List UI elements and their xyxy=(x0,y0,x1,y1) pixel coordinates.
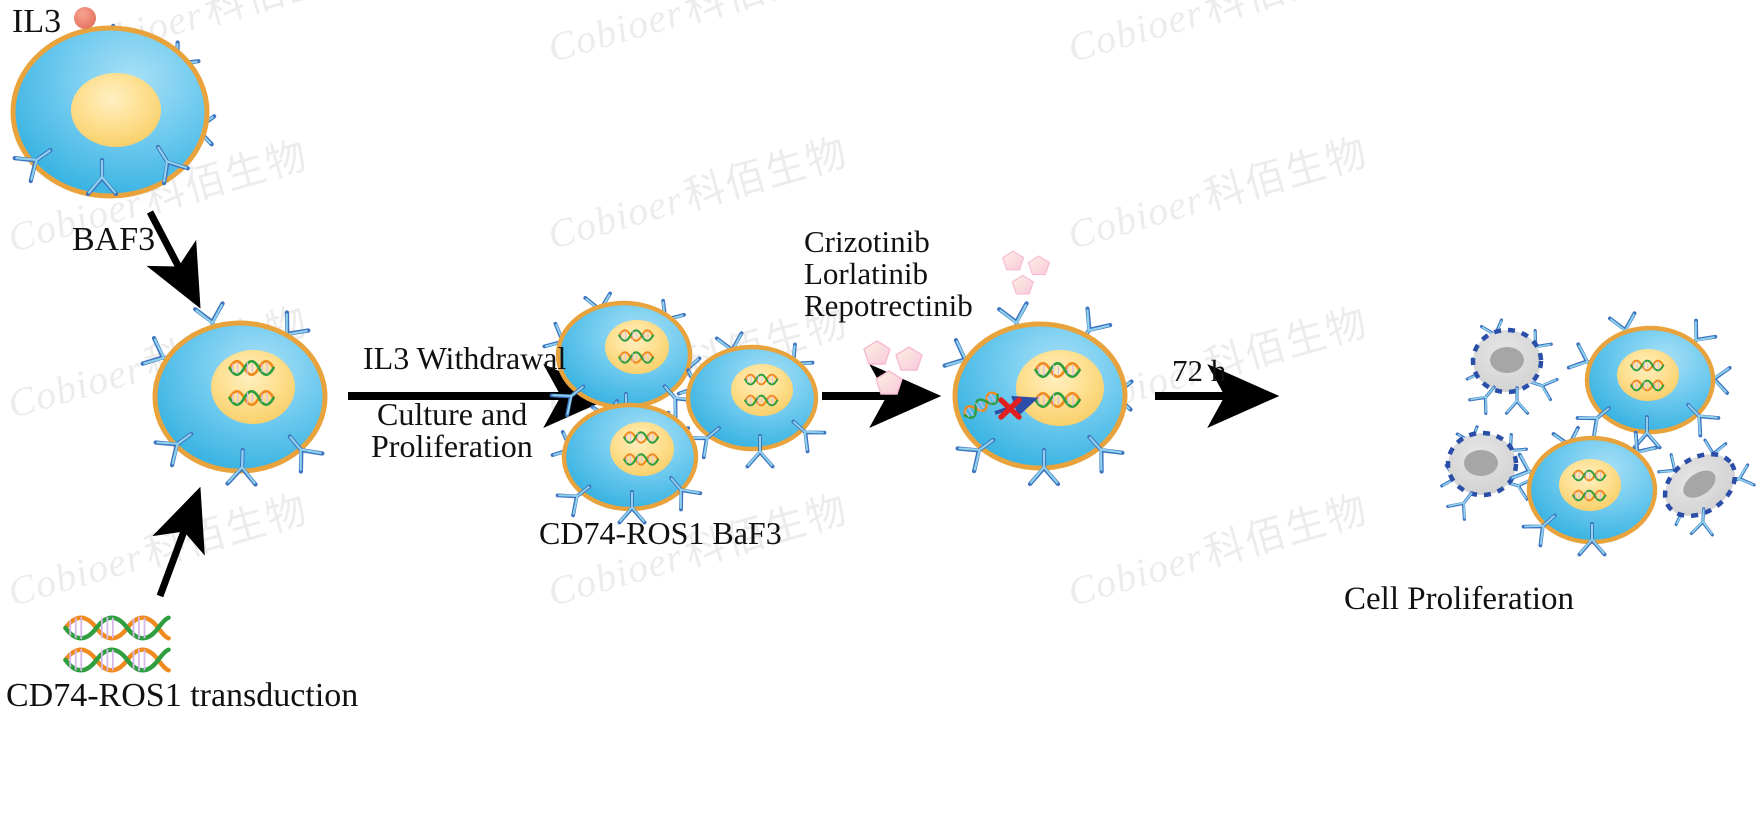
cell-proliferating xyxy=(1569,313,1730,447)
label-baf3: BAF3 xyxy=(72,220,155,260)
cell-nucleus xyxy=(1617,349,1679,401)
cell-nucleus xyxy=(1559,459,1621,511)
label-cd74-ros1-transduction: CD74-ROS1 transduction xyxy=(6,676,358,716)
dead-cell-nucleus xyxy=(1464,450,1498,476)
outcome-cells xyxy=(1442,313,1763,554)
label-drug-repotrectinib: Repotrectinib xyxy=(804,288,973,325)
cell-baf3 xyxy=(13,26,214,196)
label-72h: 72 h xyxy=(1172,353,1226,390)
il3-molecule-icon xyxy=(74,7,96,29)
figure-canvas: Cobioer 科佰生物 Cobioer 科佰生物 Cobioer 科佰生物 C… xyxy=(0,0,1763,813)
arrow-baf3-to-transduced xyxy=(150,212,196,300)
label-cd74-ros1-baf3: CD74-ROS1 BaF3 xyxy=(539,515,782,553)
cell-cd74ros1-baf3 xyxy=(143,303,325,484)
cell-drug-treated xyxy=(945,303,1132,484)
dead-cell-nucleus xyxy=(1490,347,1524,373)
cell-dead xyxy=(1467,320,1557,413)
cell-nucleus xyxy=(1016,350,1104,426)
cell-nucleus xyxy=(610,422,674,476)
cell-nucleus xyxy=(71,73,161,147)
dna-helix-icon xyxy=(65,649,168,671)
cell-dead xyxy=(1642,423,1763,549)
label-proliferation-step: Proliferation xyxy=(371,428,533,466)
dna-helix-icon xyxy=(65,617,168,639)
cd74-ros1-dna-construct xyxy=(65,617,168,671)
cell-nucleus xyxy=(731,364,793,416)
arrow-transduction xyxy=(160,496,197,596)
label-cell-proliferation: Cell Proliferation xyxy=(1344,580,1574,619)
label-il3-withdrawal: IL3 Withdrawal xyxy=(363,340,566,378)
cell-cluster-proliferating xyxy=(544,294,824,523)
drug-molecule-icon xyxy=(864,341,922,394)
cell-nucleus xyxy=(605,320,669,374)
label-il3: IL3 xyxy=(12,2,61,42)
drug-molecule-icon xyxy=(1003,251,1050,294)
